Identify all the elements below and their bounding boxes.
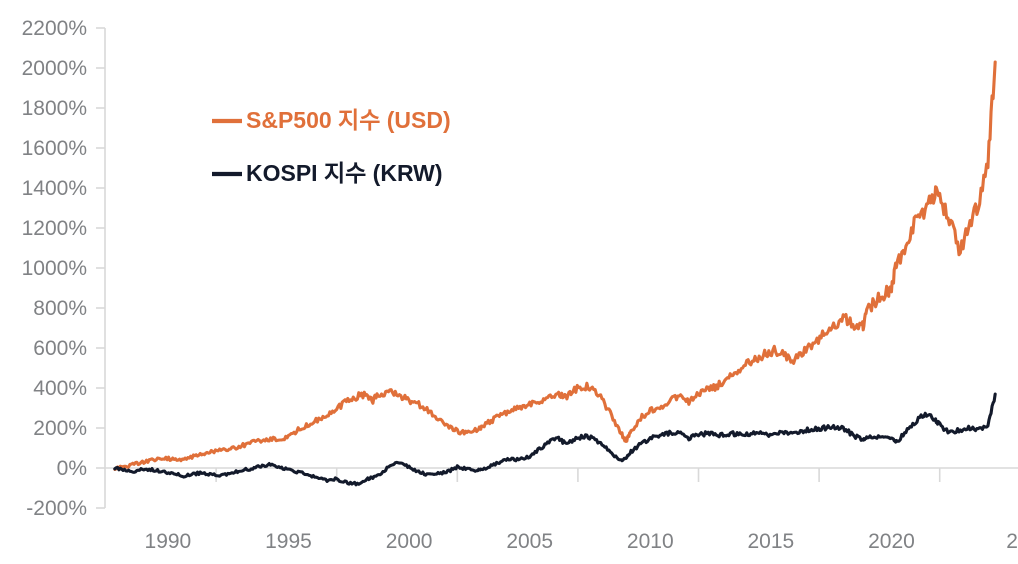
chart-legend: S&P500 지수 (USD)KOSPI 지수 (KRW) — [212, 107, 451, 186]
y-tick-label: 200% — [33, 417, 87, 440]
chart-container: 2200%2000%1800%1600%1400%1200%1000%800%6… — [0, 0, 1018, 564]
x-tick-label: 2010 — [627, 530, 674, 553]
y-tick-label: 2000% — [22, 57, 87, 80]
y-tick-label: 400% — [33, 377, 87, 400]
y-tick-label: 2200% — [22, 17, 87, 40]
x-tick-label: 2015 — [748, 530, 795, 553]
y-tick-label: 1800% — [22, 97, 87, 120]
x-tick-label: 2 — [1006, 530, 1018, 553]
y-tick-label: 1000% — [22, 257, 87, 280]
x-tick-label: 2020 — [868, 530, 915, 553]
x-tick-label: 2005 — [506, 530, 553, 553]
x-tick-label: 1995 — [265, 530, 312, 553]
line-chart: 2200%2000%1800%1600%1400%1200%1000%800%6… — [0, 0, 1018, 564]
y-tick-label: 0% — [57, 457, 87, 480]
x-tick-label: 2000 — [386, 530, 433, 553]
y-tick-label: 1400% — [22, 177, 87, 200]
y-tick-label: 800% — [33, 297, 87, 320]
x-axis: 19901995200020052010201520202 — [105, 468, 1018, 553]
y-tick-label: 1200% — [22, 217, 87, 240]
y-tick-label: 1600% — [22, 137, 87, 160]
y-tick-label: -200% — [26, 497, 87, 520]
series-line-kospi — [115, 394, 995, 485]
legend-label: KOSPI 지수 (KRW) — [246, 160, 443, 186]
x-tick-label: 1990 — [145, 530, 192, 553]
legend-label: S&P500 지수 (USD) — [246, 107, 451, 133]
y-tick-label: 600% — [33, 337, 87, 360]
y-axis: 2200%2000%1800%1600%1400%1200%1000%800%6… — [22, 17, 105, 520]
